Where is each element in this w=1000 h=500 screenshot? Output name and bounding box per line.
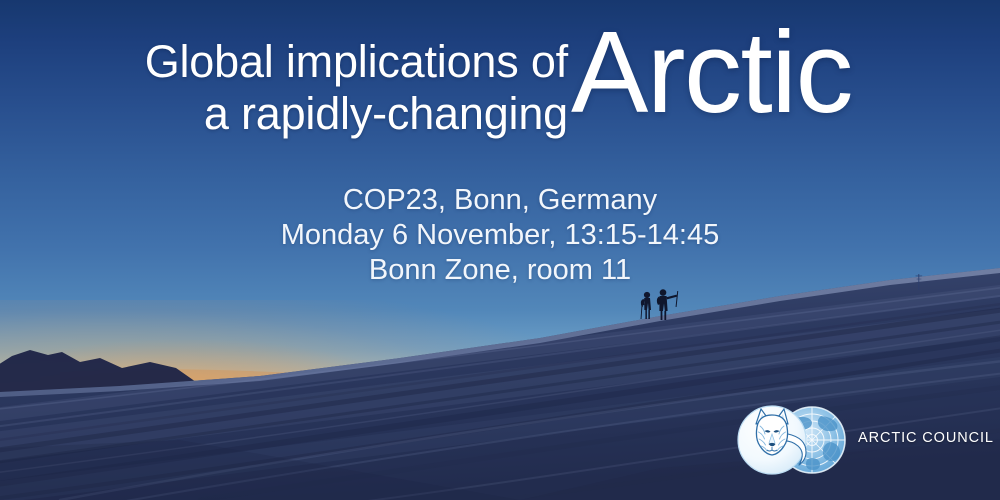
title-highlight-arctic: Arctic: [571, 14, 852, 130]
title-line-2: a rapidly-changing: [128, 88, 568, 140]
arctic-council-cop23-banner: Global implications of a rapidly-changin…: [0, 0, 1000, 500]
event-room: Bonn Zone, room 11: [0, 253, 1000, 288]
title-block: Global implications of a rapidly-changin…: [0, 0, 1000, 150]
arctic-council-logo: ARCTIC COUNCIL: [728, 400, 978, 482]
event-location: COP23, Bonn, Germany: [0, 183, 1000, 218]
arctic-council-wordmark: ARCTIC COUNCIL: [858, 430, 994, 446]
arctic-fox-icon: [756, 409, 788, 455]
skier-figures-silhouette: [630, 288, 700, 328]
title-small-lines: Global implications of a rapidly-changin…: [128, 36, 568, 140]
arctic-council-logo-mark: [728, 400, 856, 480]
event-details-block: COP23, Bonn, Germany Monday 6 November, …: [0, 183, 1000, 288]
title-line-1: Global implications of: [128, 36, 568, 88]
event-datetime: Monday 6 November, 13:15-14:45: [0, 218, 1000, 253]
